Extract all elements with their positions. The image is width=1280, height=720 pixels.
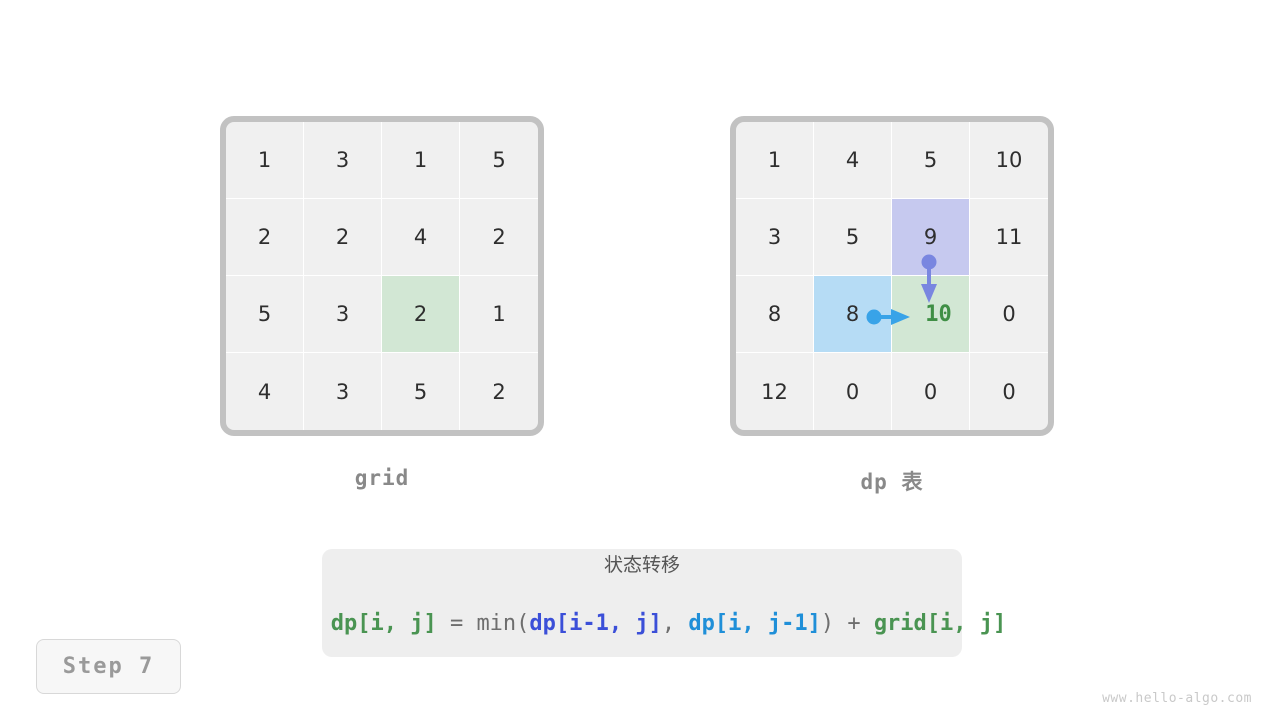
matrix-row: 2 2 4 2 [226,199,538,276]
dp-caption: dp 表 [861,466,924,496]
matrix-row: 12 0 0 0 [736,353,1048,430]
cell-value: 0 [1002,380,1015,404]
grid-cell-0-3: 5 [460,122,538,199]
matrix-row: 8 8 10 0 [736,276,1048,353]
cell-value: 4 [414,225,427,249]
grid-cell-2-3: 1 [460,276,538,353]
dp-cell-1-2: 9 [892,199,970,276]
grid-cell-3-2: 5 [382,353,460,430]
dp-cell-0-0: 1 [736,122,814,199]
dp-cell-3-2: 0 [892,353,970,430]
grid-cell-1-1: 2 [304,199,382,276]
cell-value: 5 [258,302,271,326]
dp-cell-2-0: 8 [736,276,814,353]
cell-value: 5 [846,225,859,249]
state-transition-panel: 状态转移 dp[i, j] = min(dp[i-1, j], dp[i, j-… [322,549,962,657]
formula-title: 状态转移 [604,550,680,577]
cell-value: 3 [336,302,349,326]
cell-value: 1 [492,302,505,326]
cell-value: 2 [258,225,271,249]
grid-cell-3-3: 2 [460,353,538,430]
formula-token-dp-left: dp[i, j-1] [688,611,820,636]
grid-cell-1-3: 2 [460,199,538,276]
grid-cell-2-1: 3 [304,276,382,353]
cell-value: 1 [414,148,427,172]
cell-value: 0 [924,380,937,404]
cell-value: 12 [761,380,788,404]
grid-matrix: 1 3 1 5 2 2 4 2 5 3 2 1 4 3 5 2 [220,116,544,436]
cell-value: 2 [414,302,427,326]
dp-cell-3-0: 12 [736,353,814,430]
formula-token-grid-ij: grid[i, j] [874,611,1006,636]
grid-cell-3-0: 4 [226,353,304,430]
formula-token-dp-ij: dp[i, j] [331,611,437,636]
cell-value: 4 [258,380,271,404]
watermark: www.hello-algo.com [1102,691,1252,706]
cell-value: 8 [768,302,781,326]
cell-value: 1 [768,148,781,172]
grid-cell-0-2: 1 [382,122,460,199]
dp-cell-0-2: 5 [892,122,970,199]
dp-cell-1-0: 3 [736,199,814,276]
cell-value: 11 [996,225,1023,249]
formula-token-comma: , [662,611,689,636]
matrix-row: 3 5 9 11 [736,199,1048,276]
grid-caption: grid [355,466,410,490]
cell-value: 2 [492,380,505,404]
cell-value: 9 [924,225,937,249]
cell-value: 2 [336,225,349,249]
cell-value: 10 [925,302,952,327]
dp-panel: 1 4 5 10 3 5 9 11 8 8 10 0 12 0 0 0 dp 表 [730,116,1054,496]
dp-cell-1-3: 11 [970,199,1048,276]
cell-value: 0 [1002,302,1015,326]
cell-value: 5 [924,148,937,172]
dp-cell-1-1: 5 [814,199,892,276]
step-badge: Step 7 [36,639,181,694]
cell-value: 3 [336,380,349,404]
dp-cell-2-1: 8 [814,276,892,353]
grid-cell-3-1: 3 [304,353,382,430]
grid-cell-2-2: 2 [382,276,460,353]
grid-cell-2-0: 5 [226,276,304,353]
formula-token-close-plus: ) + [821,611,874,636]
cell-value: 10 [996,148,1023,172]
cell-value: 5 [492,148,505,172]
dp-cell-2-2: 10 [892,276,970,353]
formula-expression: dp[i, j] = min(dp[i-1, j], dp[i, j-1]) +… [278,591,1007,657]
dp-cell-2-3: 0 [970,276,1048,353]
dp-cell-3-3: 0 [970,353,1048,430]
cell-value: 3 [336,148,349,172]
cell-value: 3 [768,225,781,249]
dp-cell-0-1: 4 [814,122,892,199]
matrix-row: 5 3 2 1 [226,276,538,353]
formula-token-dp-above: dp[i-1, j] [529,611,661,636]
cell-value: 8 [846,302,859,326]
formula-token-min-open: = min( [437,611,530,636]
matrix-row: 4 3 5 2 [226,353,538,430]
cell-value: 4 [846,148,859,172]
grid-cell-0-1: 3 [304,122,382,199]
cell-value: 5 [414,380,427,404]
grid-cell-0-0: 1 [226,122,304,199]
cell-value: 2 [492,225,505,249]
grid-cell-1-2: 4 [382,199,460,276]
dp-matrix: 1 4 5 10 3 5 9 11 8 8 10 0 12 0 0 0 [730,116,1054,436]
matrix-row: 1 4 5 10 [736,122,1048,199]
grid-panel: 1 3 1 5 2 2 4 2 5 3 2 1 4 3 5 2 grid [220,116,544,490]
grid-cell-1-0: 2 [226,199,304,276]
matrix-row: 1 3 1 5 [226,122,538,199]
dp-cell-3-1: 0 [814,353,892,430]
dp-cell-0-3: 10 [970,122,1048,199]
cell-value: 0 [846,380,859,404]
cell-value: 1 [258,148,271,172]
